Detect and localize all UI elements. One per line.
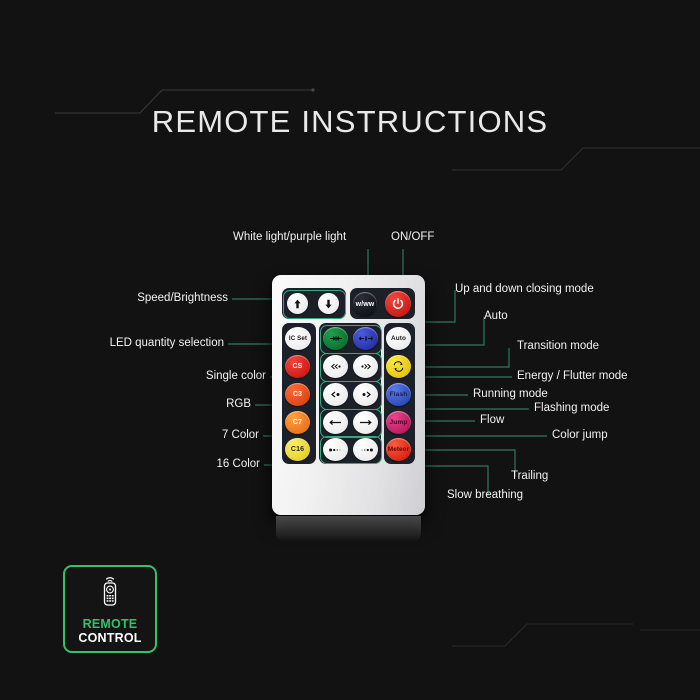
button-white-warm-white[interactable]: w/ww [353,292,377,316]
button-c3-label: C3 [293,391,302,398]
button-trailing-left[interactable] [323,438,348,461]
button-ic-set-label: IC Set [289,335,307,342]
callout-auto: Auto [484,310,508,323]
infographic-canvas: REMOTE INSTRUCTIONS White l [0,0,700,700]
callout-single-color: Single color [151,370,266,383]
remote-control-icon [97,573,123,614]
callout-speed-brightness: Speed/Brightness [116,292,228,305]
callout-transition-mode: Transition mode [517,340,599,353]
badge-line-2: CONTROL [78,631,141,645]
badge-line-1: REMOTE [83,617,138,631]
button-meteor[interactable]: Meteor [386,438,411,461]
button-power[interactable] [385,291,411,317]
button-energy-flutter[interactable] [386,355,411,378]
button-flash[interactable]: Flash [386,383,411,406]
button-c7-label: C7 [293,419,302,426]
button-c16-label: C16 [291,446,304,453]
button-transition-right[interactable] [353,355,378,378]
button-flow-left[interactable] [323,411,348,434]
callout-led-quantity-selection: LED quantity selection [88,337,224,350]
button-speed-up[interactable] [287,293,308,314]
callout-16-color: 16 Color [151,458,260,471]
button-flow-right[interactable] [353,411,378,434]
arrow-down-icon [324,299,333,309]
button-c7-seven-color[interactable]: C7 [285,411,310,434]
cycle-arrows-icon [392,361,405,372]
button-jump-label: Jump [390,419,408,426]
button-running-right[interactable] [353,383,378,406]
callout-trailing: Trailing [511,470,548,483]
button-closing-outward[interactable] [353,327,378,350]
button-c3-rgb[interactable]: C3 [285,383,310,406]
button-white-warm-white-label: w/ww [356,301,375,308]
button-jump[interactable]: Jump [386,411,411,434]
transition-left-icon [329,363,343,370]
callout-running-mode: Running mode [473,388,548,401]
button-cs-label: CS [293,363,303,370]
transition-right-icon [359,363,373,370]
running-left-icon [329,391,343,398]
callout-up-down-closing-mode: Up and down closing mode [455,283,594,296]
trailing-left-icon [328,447,344,453]
remote-control-device: w/ww IC Set CS C3 C7 C16 [272,275,425,515]
arrows-outward-icon [359,335,373,342]
button-trailing-right[interactable] [353,438,378,461]
callout-flow: Flow [480,414,504,427]
button-auto[interactable]: Auto [386,327,411,350]
button-speed-down[interactable] [318,293,339,314]
button-meteor-label: Meteor [388,446,409,453]
button-cs-single-color[interactable]: CS [285,355,310,378]
trailing-right-icon [358,447,374,453]
power-icon [392,298,404,310]
button-running-left[interactable] [323,383,348,406]
callout-slow-breathing: Slow breathing [447,489,523,502]
button-c16-sixteen-color[interactable]: C16 [285,438,310,461]
arrow-up-icon [293,299,302,309]
running-right-icon [359,391,373,398]
callout-on-off: ON/OFF [391,231,434,244]
button-auto-label: Auto [391,335,406,342]
callout-7-color: 7 Color [151,429,259,442]
flow-left-icon [328,419,343,426]
button-ic-set[interactable]: IC Set [285,327,311,350]
callout-flashing-mode: Flashing mode [534,402,609,415]
flow-right-icon [358,419,373,426]
callout-rgb: RGB [151,398,251,411]
button-closing-inward[interactable] [323,327,348,350]
button-transition-left[interactable] [323,355,348,378]
callout-white-purple-light: White light/purple light [233,231,346,244]
remote-control-badge: REMOTE CONTROL [63,565,157,653]
arrows-inward-icon [329,335,343,342]
callout-energy-flutter-mode: Energy / Flutter mode [517,370,628,383]
button-flash-label: Flash [390,391,408,398]
callout-color-jump: Color jump [552,429,608,442]
